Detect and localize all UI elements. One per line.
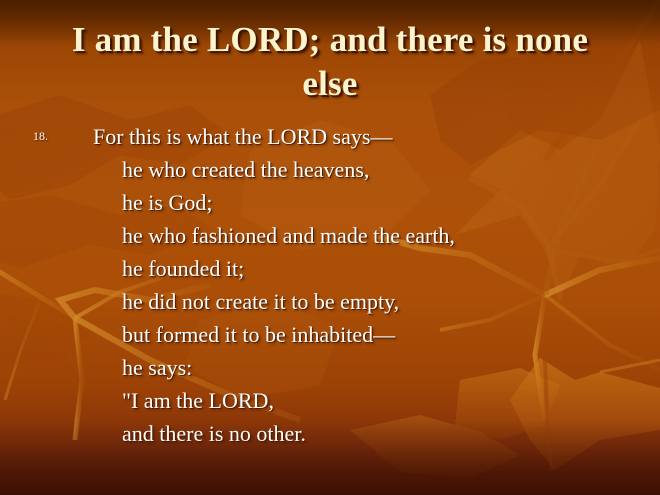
body-line-3: he is God; — [93, 186, 660, 219]
verse-text-lines: For this is what the LORD says— he who c… — [93, 120, 660, 450]
verse-row: 18. For this is what the LORD says— he w… — [0, 120, 660, 450]
title-line-2: else — [40, 62, 620, 106]
body-line-2: he who created the heavens, — [93, 153, 660, 186]
title-line-1: I am the LORD; and there is none — [40, 18, 620, 62]
verse-number-marker: 18. — [33, 129, 48, 144]
slide-body: 18. For this is what the LORD says— he w… — [0, 120, 660, 450]
body-line-4: he who fashioned and made the earth, — [93, 219, 660, 252]
body-line-1: For this is what the LORD says— — [93, 120, 660, 153]
slide-title: I am the LORD; and there is none else — [40, 18, 620, 106]
body-line-6: he did not create it to be empty, — [93, 285, 660, 318]
body-line-5: he founded it; — [93, 252, 660, 285]
body-line-8: he says: — [93, 351, 660, 384]
body-line-10: and there is no other. — [93, 417, 660, 450]
body-line-9: "I am the LORD, — [93, 384, 660, 417]
body-line-7: but formed it to be inhabited— — [93, 318, 660, 351]
presentation-slide: I am the LORD; and there is none else 18… — [0, 0, 660, 495]
